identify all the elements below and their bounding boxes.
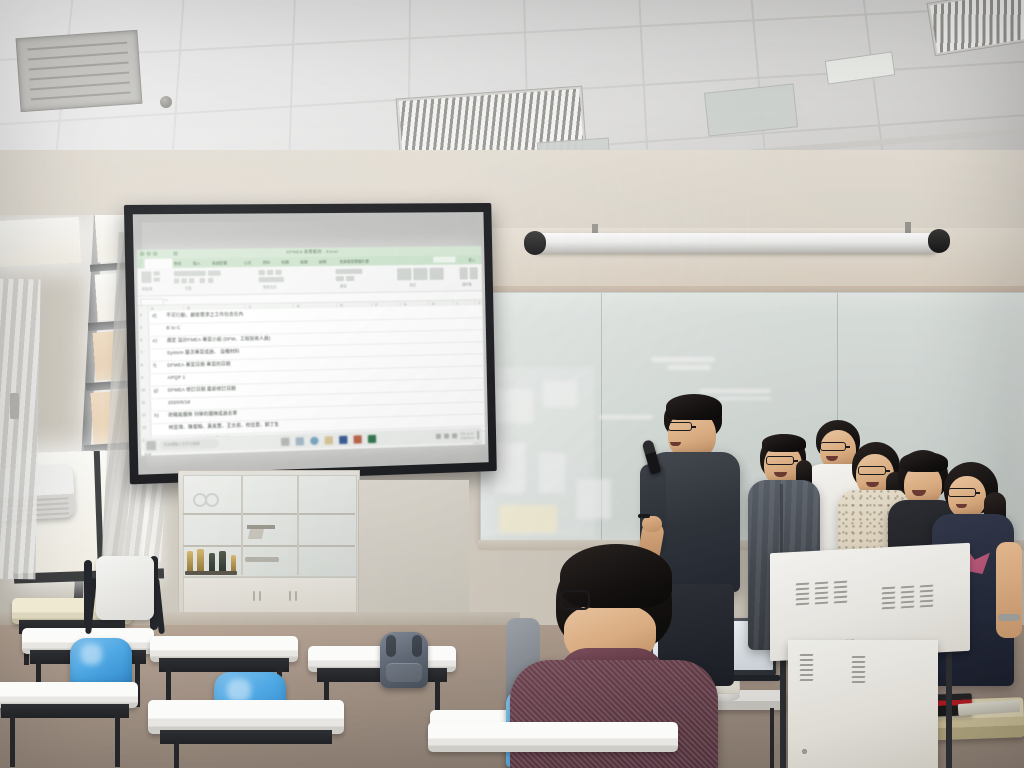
lectern-vent-right: [882, 585, 933, 610]
trophy-display-cabinet: [178, 470, 360, 632]
row-header[interactable]: 13: [142, 426, 146, 430]
cell-text[interactable]: DFMEA 專案日期 專案的日期: [167, 361, 230, 369]
glasses-icon: [948, 488, 976, 497]
windows-start-icon[interactable]: [146, 441, 156, 451]
excel-name-box[interactable]: [140, 298, 164, 306]
row-header[interactable]: 6: [140, 338, 142, 342]
ribbon-group-clipboard[interactable]: 剪貼簿: [139, 270, 167, 293]
column-header[interactable]: A: [151, 306, 154, 310]
show-desktop-icon[interactable]: [477, 430, 479, 439]
curtain-pull-weight: [10, 393, 19, 419]
roller-screen-end-cap: [928, 229, 950, 253]
glasses-icon: [858, 466, 886, 475]
ribbon-group-label: 對齊方式: [263, 284, 276, 289]
ribbon-tab[interactable]: 常用: [174, 260, 182, 266]
mail-icon[interactable]: [295, 437, 303, 445]
ribbon-tab[interactable]: 校閱: [281, 259, 289, 265]
excel-icon[interactable]: [368, 434, 376, 442]
task-view-icon[interactable]: [281, 437, 290, 445]
ribbon-tab[interactable]: 公式: [244, 259, 252, 265]
roller-screen-end-cap: [524, 231, 546, 255]
word-icon[interactable]: [339, 435, 347, 443]
taskbar-system-tray[interactable]: 下午 02:37 2020/6/18: [436, 430, 480, 440]
air-vent-icon: [16, 30, 143, 112]
taskbar-clock[interactable]: 下午 02:37 2020/6/18: [460, 431, 475, 439]
ribbon-group-label: 數值: [340, 283, 347, 288]
row-header[interactable]: 7: [141, 351, 143, 355]
taskbar-pinned-apps[interactable]: [281, 434, 376, 445]
row-header[interactable]: 12: [142, 413, 146, 417]
cell-text[interactable]: 不可行動、顧客需求之工作包含在內: [166, 311, 243, 319]
ribbon-group-label: 剪貼簿: [142, 286, 152, 291]
cell-index[interactable]: g): [154, 388, 159, 393]
shelf-object: [245, 557, 279, 562]
ribbon-tab[interactable]: 資料: [263, 259, 271, 265]
ribbon-tab[interactable]: 檢視: [300, 259, 308, 265]
battery-icon[interactable]: [452, 433, 457, 438]
excel-document-title: DFMEA 表單範例 - Excel: [287, 249, 339, 256]
lectern-body-vent-left: [800, 654, 813, 681]
cell-text[interactable]: 跨職能團隊 列舉的團隊成員名單: [168, 410, 237, 418]
excel-account-button[interactable]: [433, 256, 455, 262]
student-desk-foreground: [428, 722, 678, 768]
laser-pointer-icon[interactable]: [638, 514, 650, 518]
av-lectern[interactable]: 教學 多媒體講桌系統 臺灣: [770, 548, 970, 768]
ribbon-tab[interactable]: 版面配置: [212, 260, 227, 266]
lectern-vent-left: [796, 581, 847, 606]
ribbon-group-label: 儲存格: [462, 281, 472, 286]
row-header[interactable]: 10: [141, 388, 145, 392]
backpack[interactable]: [380, 632, 428, 688]
projection-screen[interactable]: DFMEA 表單範例 - Excel 常用 插入 版面配置 公式 資料 校閱 檢…: [124, 203, 497, 484]
cell-index[interactable]: d): [152, 313, 157, 318]
ribbon-tab[interactable]: 說明: [319, 258, 327, 264]
excel-window[interactable]: DFMEA 表單範例 - Excel 常用 插入 版面配置 公式 資料 校閱 檢…: [137, 246, 486, 456]
cell-text[interactable]: 2020/6/18: [168, 399, 190, 405]
cell-index[interactable]: f): [153, 363, 156, 368]
trophy-icon: [187, 551, 193, 573]
row-header[interactable]: 8: [141, 363, 143, 367]
lectern-cabinet-body[interactable]: [788, 640, 938, 768]
cell-text[interactable]: System 層次專案成員、 設備材料: [167, 349, 240, 357]
cell-text[interactable]: APQP 1: [167, 375, 185, 381]
column-header[interactable]: B: [187, 306, 190, 310]
smoke-detector-icon: [160, 96, 172, 108]
presenter-hand-pointer: [642, 516, 662, 532]
edge-icon[interactable]: [310, 436, 318, 444]
cell-text[interactable]: B to C: [166, 325, 180, 330]
cell-index[interactable]: h): [154, 413, 159, 418]
cell-text[interactable]: DFMEA 修訂日期 最新修訂日期: [168, 386, 236, 394]
window-curtain[interactable]: [0, 279, 41, 580]
row-header[interactable]: 4: [140, 313, 142, 317]
student-5-arm: [996, 542, 1022, 638]
ceiling-light-diffuser: [704, 83, 798, 136]
roller-projection-screen-housing: [530, 233, 940, 253]
volume-icon[interactable]: [444, 433, 449, 438]
cell-index[interactable]: e): [153, 338, 158, 343]
row-header[interactable]: 11: [142, 401, 146, 405]
search-input[interactable]: 在這裡輸入文字以搜尋: [159, 439, 219, 450]
student-desk: [0, 682, 138, 768]
ribbon-tell-me[interactable]: 告訴我您想做什麼: [339, 258, 369, 264]
glasses-icon: [766, 456, 794, 465]
excel-fx-label: fx: [165, 298, 168, 302]
network-icon[interactable]: [436, 434, 441, 439]
ribbon-group-cells[interactable]: 儲存格: [458, 266, 486, 288]
row-header[interactable]: 5: [140, 326, 142, 330]
file-explorer-icon[interactable]: [324, 436, 332, 444]
ribbon-group-styles[interactable]: 樣式: [395, 267, 452, 290]
ribbon-group-number[interactable]: 數值: [333, 267, 389, 290]
excel-account-label[interactable]: 登入: [468, 257, 475, 263]
trophy-icon: [197, 549, 204, 573]
clock-date: 2020/6/18: [460, 435, 474, 439]
window-pane: [0, 217, 81, 267]
row-header[interactable]: 9: [141, 376, 143, 380]
student-1-bangs: [762, 434, 806, 452]
powerpoint-icon[interactable]: [353, 435, 361, 443]
glasses-icon: [668, 422, 692, 431]
white-armchair[interactable]: [96, 556, 154, 620]
glasses-icon: [560, 590, 590, 610]
trophy-icon: [209, 553, 215, 573]
wristwatch-icon: [998, 614, 1020, 621]
cell-text[interactable]: 選定 設計FMEA 專案小組 (DFM、工程技術人員): [167, 336, 271, 344]
ribbon-tab[interactable]: 插入: [193, 260, 201, 266]
ribbon-group-label: 字型: [185, 285, 192, 290]
ribbon-group-alignment[interactable]: 對齊方式: [256, 268, 325, 291]
medal-icon: [205, 493, 219, 507]
excel-grid[interactable]: 4 5 6 7 8 9 10 11 12 13 14: [138, 305, 485, 442]
trophy-icon: [219, 551, 226, 573]
student-5-head: [948, 476, 986, 518]
low-wall-cabinet: [358, 480, 469, 630]
excel-active-tab[interactable]: [145, 259, 173, 269]
shelf-object: [248, 529, 264, 539]
student-desk: [148, 700, 344, 768]
presenter-hair-top: [666, 394, 722, 420]
ribbon-group-label: 樣式: [409, 282, 416, 287]
ribbon-group-font[interactable]: 字型: [172, 269, 249, 293]
classroom-photo-scene: DFMEA 表單範例 - Excel 常用 插入 版面配置 公式 資料 校閱 檢…: [0, 0, 1024, 768]
lectern-body-vent-right: [852, 656, 865, 683]
lectern-lock-icon[interactable]: [802, 749, 807, 754]
